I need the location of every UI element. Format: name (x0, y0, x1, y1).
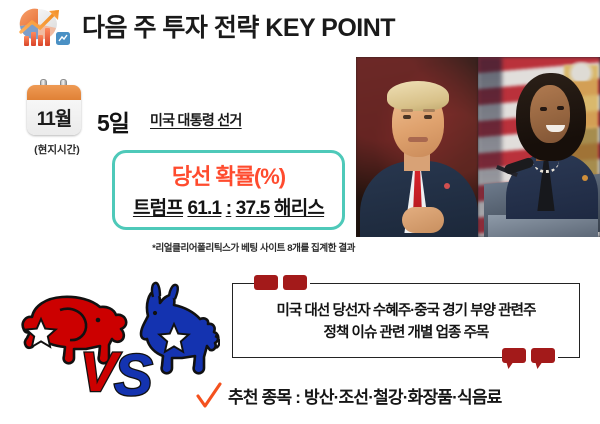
probability-footnote: *리얼클리어폴리틱스가 베팅 사이트 8개를 집계한 결과 (112, 240, 355, 254)
chart-growth-icon (12, 6, 74, 50)
photo-trump-eye-left (403, 115, 411, 119)
photo-harris (478, 57, 600, 237)
left-candidate-name: 트럼프 (133, 198, 183, 219)
photo-trump-mouth (408, 137, 428, 142)
probability-ratio: 트럼프 61.1 : 37.5 해리스 (115, 193, 342, 220)
page-header: 다음 주 투자 전략 KEY POINT (0, 0, 600, 52)
calendar-month-label: 11월 (27, 104, 81, 131)
photo-trump-brow-right (423, 109, 435, 112)
recommended-sectors: 추천 종목 : 방산·조선·철강·화장품·식음료 (228, 383, 502, 408)
photo-trump-brow-left (401, 109, 413, 112)
right-candidate-name: 해리스 (274, 198, 324, 219)
photo-harris-eagle-finial (566, 61, 596, 81)
quote-line-2: 정책 이슈 관련 개별 업종 주목 (244, 322, 568, 344)
calendar-icon: 11월 (27, 79, 81, 135)
page-title: 다음 주 투자 전략 KEY POINT (82, 8, 395, 44)
election-probability-box: 당선 확률(%) 트럼프 61.1 : 37.5 해리스 (112, 150, 345, 230)
vs-label: V S (80, 340, 153, 398)
quote-open-icon (254, 275, 310, 293)
right-candidate-value: 37.5 (236, 198, 270, 219)
quote-close-icon (502, 348, 558, 366)
photo-trump-lapel-pin (444, 183, 450, 189)
calendar-header-band (27, 85, 81, 100)
quote-line-1: 미국 대선 당선자 수혜주·중국 경기 부양 관련주 (244, 300, 568, 322)
check-icon (196, 382, 222, 410)
party-mascots: V S (8, 276, 220, 398)
photo-trump-hands (402, 207, 444, 233)
probability-title: 당선 확률(%) (115, 159, 342, 191)
event-name: 미국 대통령 선거 (150, 110, 242, 130)
democrat-donkey-icon (141, 283, 219, 373)
calendar-body: 11월 (27, 85, 81, 135)
photo-trump (356, 57, 478, 237)
photo-harris-face-front (530, 85, 570, 143)
event-day: 5일 (97, 104, 129, 138)
left-candidate-value: 61.1 (187, 198, 221, 219)
timezone-note: (현지시간) (22, 142, 92, 157)
photo-harris-eye-right (557, 106, 564, 110)
ratio-separator: : (226, 198, 232, 219)
photo-trump-eye-right (424, 115, 432, 119)
candidates-photo (356, 57, 600, 237)
photo-harris-eye-left (540, 107, 547, 111)
quote-content: 미국 대선 당선자 수혜주·중국 경기 부양 관련주 정책 이슈 관련 개별 업… (244, 300, 568, 345)
photo-harris-lapel-pin (582, 175, 588, 181)
photo-trump-hair (387, 81, 449, 111)
key-point-quote-box: 미국 대선 당선자 수혜주·중국 경기 부양 관련주 정책 이슈 관련 개별 업… (232, 283, 580, 358)
svg-text:S: S (114, 343, 153, 398)
